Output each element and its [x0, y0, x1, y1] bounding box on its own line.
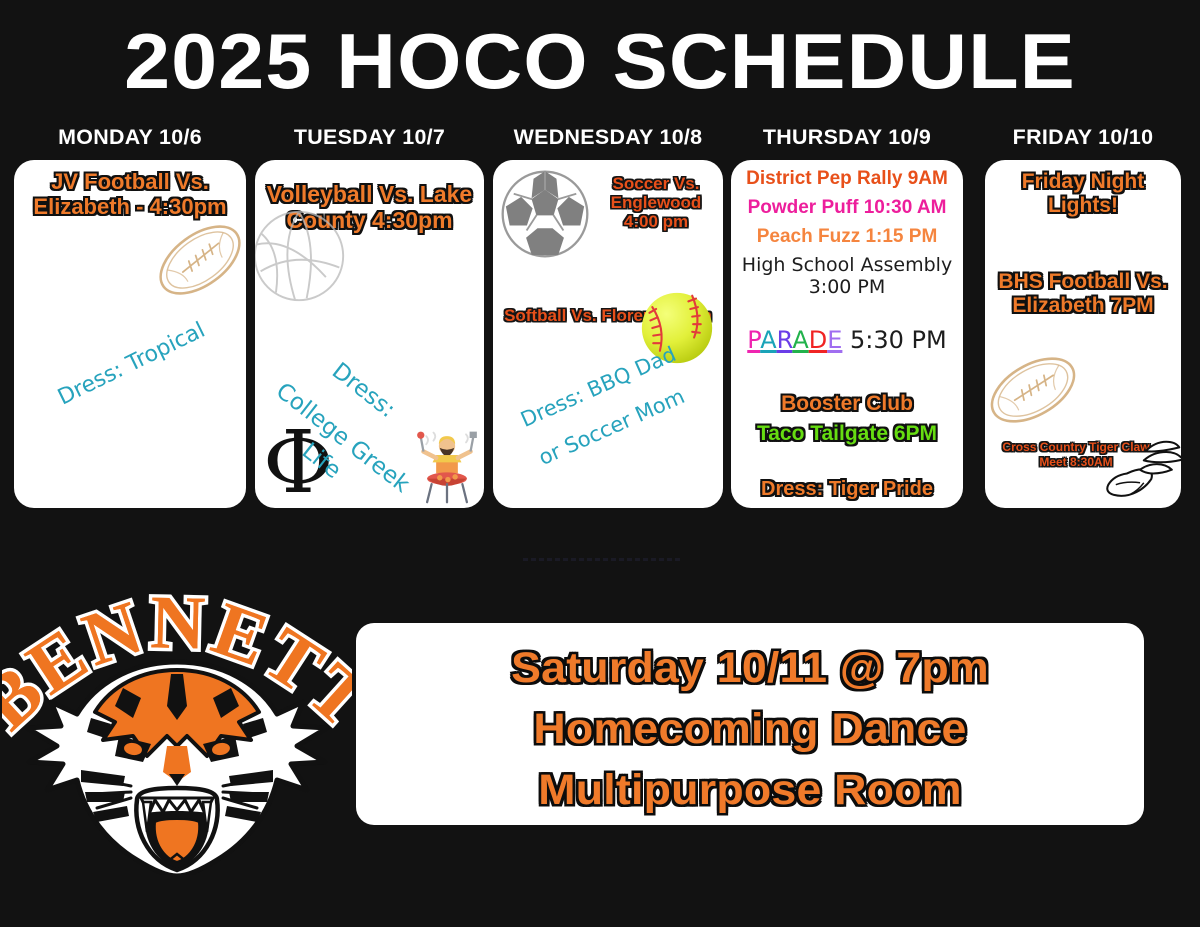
- thursday-taco-tailgate: Taco Tailgate 6PM: [731, 422, 963, 446]
- thursday-parade-time: 5:30 PM: [842, 326, 946, 354]
- thursday-assembly-line1: High School Assembly: [731, 255, 963, 277]
- day-header-monday: MONDAY 10/6: [12, 126, 249, 150]
- banner-line-2: Homecoming Dance: [340, 708, 1160, 751]
- parade-letter-p: P: [747, 326, 760, 354]
- thursday-parade: PARADE 5:30 PM: [731, 327, 963, 355]
- bennett-tiger-logo: BENNETT BENNETT: [2, 575, 352, 875]
- monday-dress-note: Dress: Tropical: [54, 318, 210, 412]
- day-header-friday: FRIDAY 10/10: [983, 126, 1183, 150]
- soccer-ball-icon: [499, 168, 591, 260]
- thursday-assembly: High School Assembly 3:00 PM: [731, 255, 963, 299]
- thursday-pep-rally: District Pep Rally 9AM: [731, 168, 963, 190]
- parade-letter-a2: A: [792, 326, 808, 354]
- winged-foot-icon: [1099, 432, 1181, 500]
- thursday-peach-fuzz: Peach Fuzz 1:15 PM: [731, 226, 963, 248]
- page-title: 2025 HOCO SCHEDULE: [0, 22, 1200, 100]
- parade-letter-r: R: [777, 326, 793, 354]
- tiger-head-logo: BENNETT BENNETT: [2, 575, 352, 875]
- parade-letter-e: E: [827, 326, 842, 354]
- banner-line-3: Multipurpose Room: [340, 769, 1160, 812]
- thursday-dress-note: Dress: Tiger Pride: [731, 478, 963, 501]
- saturday-dance-banner: Saturday 10/11 @ 7pm Homecoming Dance Mu…: [356, 623, 1144, 825]
- day-headers-row: MONDAY 10/6 TUESDAY 10/7 WEDNESDAY 10/8 …: [0, 126, 1200, 154]
- day-card-monday: JV Football Vs. Elizabeth - 4:30pm Dress…: [14, 160, 246, 508]
- football-icon: [985, 332, 1097, 449]
- friday-headline-2: BHS Football Vs. Elizabeth 7PM: [988, 270, 1178, 317]
- friday-headline-1: Friday Night Lights!: [988, 170, 1178, 217]
- day-card-friday: Friday Night Lights! BHS Football Vs. El…: [985, 160, 1181, 508]
- day-header-thursday: THURSDAY 10/9: [729, 126, 966, 150]
- day-header-wednesday: WEDNESDAY 10/8: [491, 126, 726, 150]
- day-card-wednesday: Soccer Vs. Englewood 4:00 pm Softball Vs…: [493, 160, 723, 508]
- parade-letter-d: D: [809, 326, 827, 354]
- banner-line-1: Saturday 10/11 @ 7pm: [340, 647, 1160, 690]
- wednesday-soccer-text: Soccer Vs. Englewood 4:00 pm: [595, 174, 717, 231]
- hoco-schedule-poster: 2025 HOCO SCHEDULE MONDAY 10/6 TUESDAY 1…: [0, 0, 1200, 927]
- tuesday-dress-note-1: Dress:: [326, 358, 400, 424]
- bbq-grill-icon: [414, 428, 480, 504]
- parade-letter-a1: A: [760, 326, 776, 354]
- volleyball-icon: [255, 208, 347, 304]
- thursday-powder-puff: Powder Puff 10:30 AM: [731, 197, 963, 219]
- day-card-tuesday: Volleyball Vs. Lake County 4:30pm Φ: [255, 160, 484, 508]
- thursday-assembly-line2: 3:00 PM: [731, 277, 963, 299]
- thursday-booster-club: Booster Club: [731, 392, 963, 416]
- day-header-tuesday: TUESDAY 10/7: [253, 126, 487, 150]
- faint-dashed-artifact: [523, 558, 683, 561]
- day-card-thursday: District Pep Rally 9AM Powder Puff 10:30…: [731, 160, 963, 508]
